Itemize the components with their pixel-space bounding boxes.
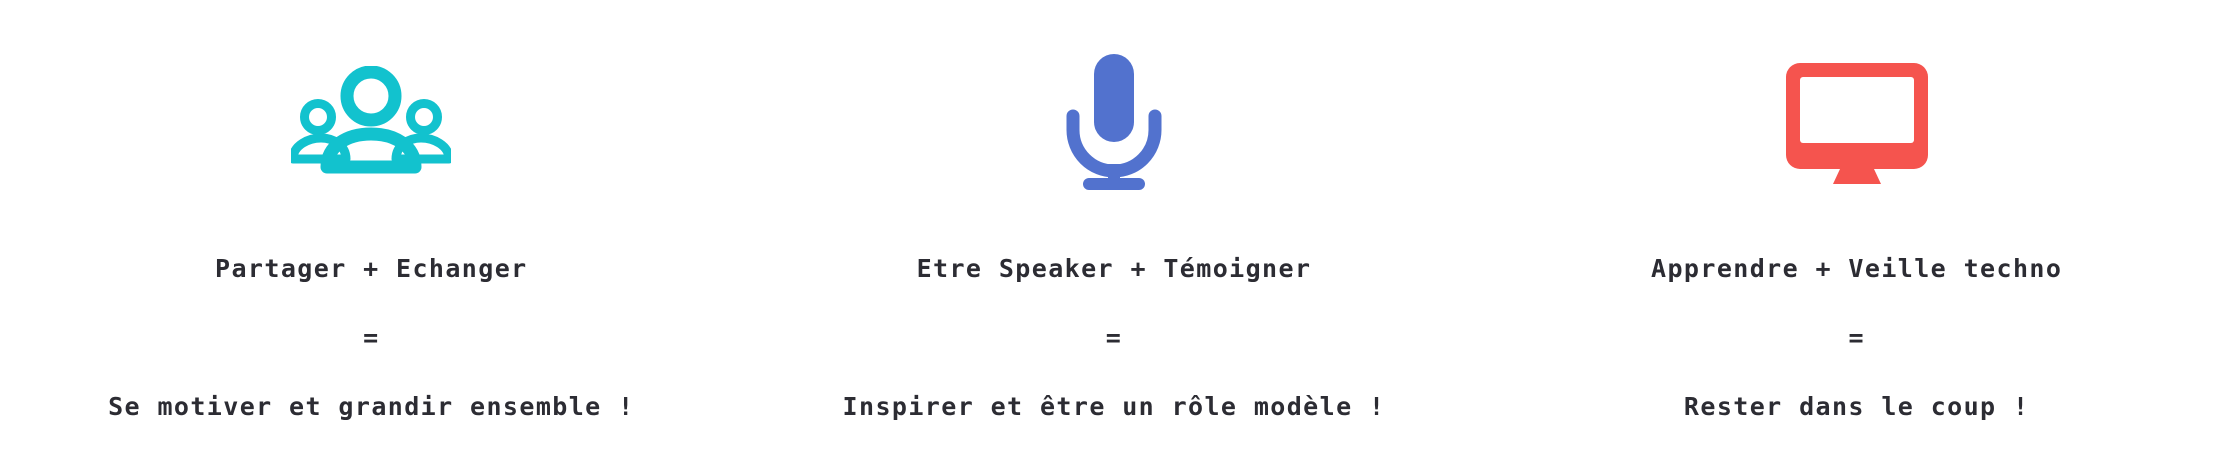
microphone-icon-wrap [1059,22,1169,222]
benefit-title: Apprendre + Veille techno [1651,256,2062,281]
benefit-column-learn: Apprendre + Veille techno = Rester dans … [1485,0,2228,474]
group-people-icon-wrap [291,22,451,222]
benefits-row: Partager + Echanger = Se motiver et gran… [0,0,2228,474]
benefit-result: Inspirer et être un rôle modèle ! [843,394,1386,419]
benefit-column-speaker: Etre Speaker + Témoigner = Inspirer et ê… [743,0,1486,474]
benefit-operator: = [1106,325,1122,350]
benefit-operator: = [363,325,379,350]
benefit-result: Rester dans le coup ! [1684,394,2029,419]
benefit-result: Se motiver et grandir ensemble ! [108,394,634,419]
benefit-text-speaker: Etre Speaker + Témoigner = Inspirer et ê… [743,222,1486,419]
microphone-icon [1059,52,1169,192]
benefit-operator: = [1848,325,1864,350]
benefit-title: Partager + Echanger [215,256,528,281]
benefit-title: Etre Speaker + Témoigner [917,256,1312,281]
benefit-column-share: Partager + Echanger = Se motiver et gran… [0,0,743,474]
benefit-text-share: Partager + Echanger = Se motiver et gran… [0,222,743,419]
group-people-icon [291,66,451,178]
desktop-monitor-icon [1783,60,1931,184]
benefit-text-learn: Apprendre + Veille techno = Rester dans … [1485,222,2228,419]
desktop-monitor-icon-wrap [1783,22,1931,222]
